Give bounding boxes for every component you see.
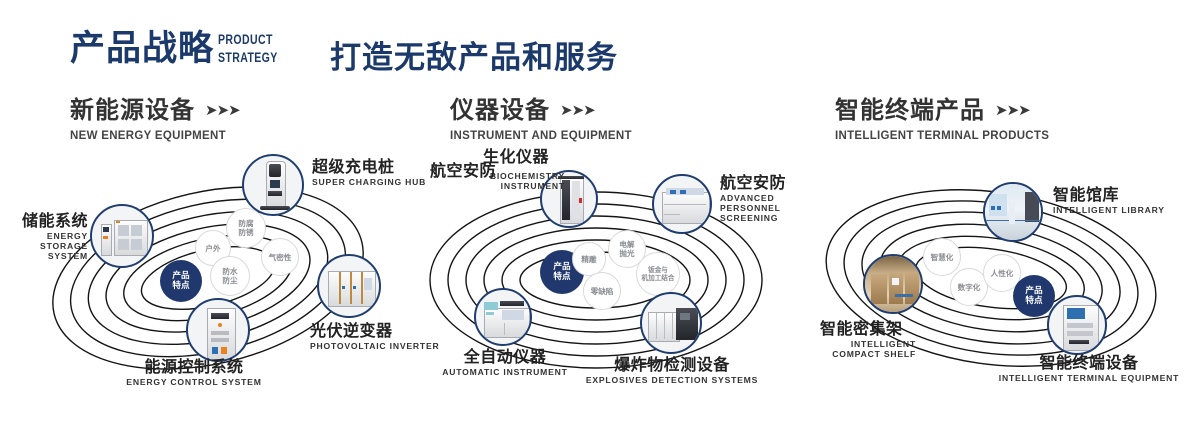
library-interior-icon: [985, 184, 1041, 240]
node-advanced-personnel-screening[interactable]: [652, 174, 712, 234]
automatic-analyzer-icon: [476, 290, 530, 344]
page-tagline: 打造无敌产品和服务: [330, 32, 618, 77]
feature-label: 人性化: [991, 269, 1014, 278]
page-title-en: PRODUCT STRATEGY: [218, 33, 278, 64]
self-service-kiosk-icon: [1049, 297, 1105, 353]
node-label-cn: 航空安防: [396, 162, 496, 180]
node-intelligent-terminal-equipment[interactable]: [1047, 295, 1107, 355]
node-label-cn: 储能系统: [2, 212, 88, 230]
page-title-cn: 产品战略: [70, 28, 214, 70]
node-label-energy-control: 能源控制系统 ENERGY CONTROL SYSTEM: [88, 358, 300, 388]
cluster-new-energy: 产品 特点 户外 防腐 防锈 防水 防尘 气密性: [10, 150, 410, 415]
node-label-intelligent-library: 智能馆库 INTELLIGENT LIBRARY: [1053, 186, 1165, 216]
feature-bubble-engraving: 精雕: [572, 242, 606, 276]
section-title-new-energy: 新能源设备 ➤➤➤ NEW ENERGY EQUIPMENT: [70, 97, 240, 142]
feature-bubble-airtight: 气密性: [261, 238, 299, 276]
energy-storage-cabinet-icon: [92, 206, 152, 266]
node-label-en: AUTOMATIC INSTRUMENT: [420, 368, 590, 378]
section-title-en: INTELLIGENT TERMINAL PRODUCTS: [835, 130, 1049, 142]
chevron-right-icons: ➤➤➤: [995, 103, 1030, 118]
node-label-en: ENERGY CONTROL SYSTEM: [88, 378, 300, 388]
feature-bubble-zero-defect: 零缺陷: [583, 272, 621, 310]
feature-bubble-intelligent: 智慧化: [923, 238, 961, 276]
feature-label: 智慧化: [931, 253, 954, 262]
node-label-explosives-detection: 爆炸物检测设备 EXPLOSIVES DETECTION SYSTEMS: [582, 356, 762, 386]
node-label-en: INTELLIGENT COMPACT SHELF: [820, 340, 916, 360]
node-label-automatic-instrument: 全自动仪器 AUTOMATIC INSTRUMENT: [420, 348, 590, 378]
screening-machine-icon: [654, 176, 710, 232]
section-title-instrument: 仪器设备 ➤➤➤ INSTRUMENT AND EQUIPMENT: [450, 97, 632, 142]
node-pv-inverter[interactable]: [317, 254, 381, 318]
node-label-en: INTELLIGENT TERMINAL EQUIPMENT: [993, 374, 1185, 384]
feature-label: 防腐 防锈: [238, 219, 253, 237]
node-label-terminal-equipment: 智能终端设备 INTELLIGENT TERMINAL EQUIPMENT: [993, 354, 1185, 384]
node-label-cn: 全自动仪器: [420, 348, 590, 366]
feature-bubble-waterproof: 防水 防尘: [210, 256, 250, 296]
feature-label: 数字化: [958, 283, 981, 292]
node-charging-pile[interactable]: [242, 154, 304, 216]
control-cabinet-icon: [188, 300, 248, 360]
node-energy-storage[interactable]: [90, 204, 154, 268]
page-title-en-line2: STRATEGY: [218, 51, 278, 65]
section-title-cn: 新能源设备 ➤➤➤: [70, 97, 240, 123]
cluster-intelligent-terminal: 智慧化 数字化 人性化 产品 特点 智能馆库: [795, 150, 1195, 415]
feature-label: 电解 抛光: [619, 240, 634, 258]
charging-pile-icon: [244, 156, 302, 214]
compact-shelf-icon: [865, 256, 921, 312]
node-label-energy-storage: 储能系统 ENERGY STORAGE SYSTEM: [2, 212, 88, 262]
feature-label: 防水 防尘: [222, 267, 237, 285]
node-energy-control[interactable]: [186, 298, 250, 362]
node-label-cn: 智能密集架: [820, 320, 916, 338]
node-label-cn: 能源控制系统: [88, 358, 300, 376]
node-label-compact-shelf: 智能密集架 INTELLIGENT COMPACT SHELF: [820, 320, 916, 360]
feature-label: 钣金与 机加工结合: [642, 266, 675, 282]
core-badge-new-energy: 产品 特点: [160, 260, 202, 302]
core-badge-line1: 产品: [172, 271, 189, 281]
section-title-en: NEW ENERGY EQUIPMENT: [70, 130, 240, 142]
node-automatic-instrument[interactable]: [474, 288, 532, 346]
product-strategy-infographic: 产品战略 PRODUCT STRATEGY 打造无敌产品和服务 新能源设备 ➤➤…: [0, 0, 1200, 422]
node-label-cn: 智能终端设备: [993, 354, 1185, 372]
node-label-en: INTELLIGENT LIBRARY: [1053, 206, 1165, 216]
explosives-detector-icon: [642, 294, 700, 352]
feature-label: 精雕: [581, 255, 596, 264]
feature-bubble-anticorrosion: 防腐 防锈: [226, 208, 266, 248]
node-label-cn: 智能馆库: [1053, 186, 1165, 204]
section-title-intelligent-terminal: 智能终端产品 ➤➤➤ INTELLIGENT TERMINAL PRODUCTS: [835, 97, 1049, 142]
pv-inverter-cabinet-icon: [319, 256, 379, 316]
feature-bubble-sheetmetal-machining: 钣金与 机加工结合: [636, 252, 680, 296]
core-badge-line1: 产品: [1025, 286, 1042, 296]
chevron-right-icons: ➤➤➤: [560, 103, 595, 118]
section-title-cn-text: 智能终端产品: [835, 97, 985, 123]
section-title-en: INSTRUMENT AND EQUIPMENT: [450, 130, 632, 142]
section-title-cn-text: 新能源设备: [70, 97, 195, 123]
core-badge-line2: 特点: [1025, 296, 1042, 306]
section-title-cn: 智能终端产品 ➤➤➤: [835, 97, 1049, 123]
feature-label: 零缺陷: [591, 287, 614, 296]
node-label-cn: 爆炸物检测设备: [582, 356, 762, 374]
core-badge-line1: 产品: [553, 262, 570, 272]
header: 产品战略 PRODUCT STRATEGY 打造无敌产品和服务: [0, 0, 1200, 88]
node-label-en: EXPLOSIVES DETECTION SYSTEMS: [582, 376, 762, 386]
node-label-aviation-security-left: 航空安防: [396, 162, 496, 180]
node-label-en: ENERGY STORAGE SYSTEM: [2, 232, 88, 262]
chevron-right-icons: ➤➤➤: [205, 103, 240, 118]
node-intelligent-library[interactable]: [983, 182, 1043, 242]
section-title-cn-text: 仪器设备: [450, 97, 550, 123]
node-intelligent-compact-shelf[interactable]: [863, 254, 923, 314]
section-title-cn: 仪器设备 ➤➤➤: [450, 97, 632, 123]
cluster-instrument: 产品 特点 精雕 电解 抛光 零缺陷 钣金与 机加工结合 生: [400, 150, 800, 415]
feature-label: 气密性: [269, 253, 292, 262]
page-title-en-line1: PRODUCT: [218, 33, 278, 47]
node-explosives-detection[interactable]: [640, 292, 702, 354]
feature-label: 户外: [205, 244, 220, 253]
core-badge-line2: 特点: [172, 281, 189, 291]
core-badge-line2: 特点: [553, 272, 570, 282]
